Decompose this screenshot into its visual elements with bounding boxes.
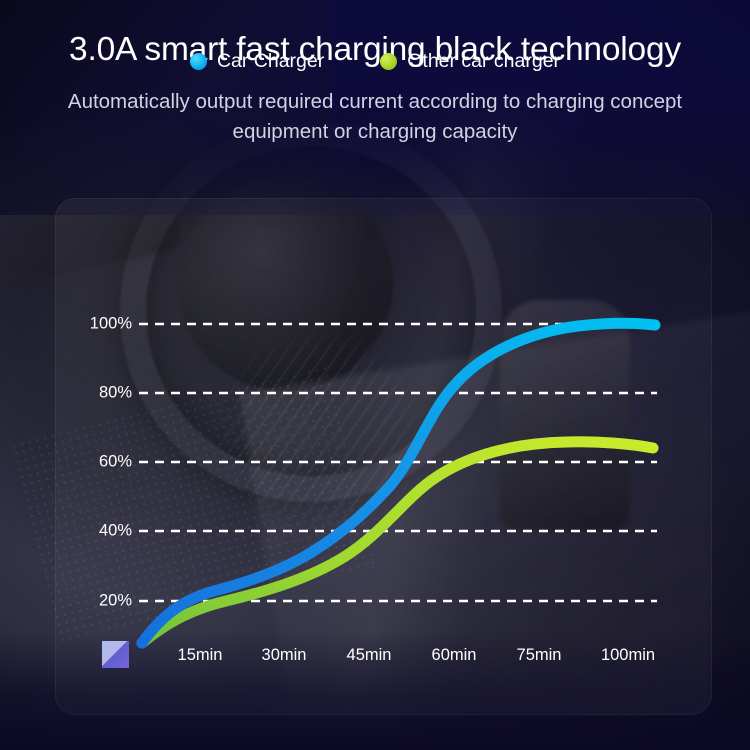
x-tick-label: 75min bbox=[517, 646, 562, 665]
promo-banner: 3.0A smart fast charging black technolog… bbox=[0, 0, 750, 750]
x-axis: 15min 30min 45min 60min 75min 100min bbox=[0, 646, 750, 676]
y-tick-label: 80% bbox=[99, 384, 132, 403]
x-tick-label: 100min bbox=[601, 646, 655, 665]
x-tick-label: 30min bbox=[262, 646, 307, 665]
x-tick-label: 15min bbox=[178, 646, 223, 665]
y-tick-label: 100% bbox=[90, 315, 132, 334]
chart-gridlines bbox=[139, 324, 657, 601]
y-tick-label: 60% bbox=[99, 453, 132, 472]
x-tick-label: 60min bbox=[432, 646, 477, 665]
x-tick-label: 45min bbox=[347, 646, 392, 665]
y-tick-label: 40% bbox=[99, 522, 132, 541]
y-tick-label: 20% bbox=[99, 592, 132, 611]
chart-plot-area: 100% 80% 60% 40% 20% 15min 30min 45min 6… bbox=[0, 0, 750, 750]
series-line-car-charger bbox=[142, 323, 655, 643]
y-axis: 100% 80% 60% 40% 20% bbox=[78, 0, 132, 750]
